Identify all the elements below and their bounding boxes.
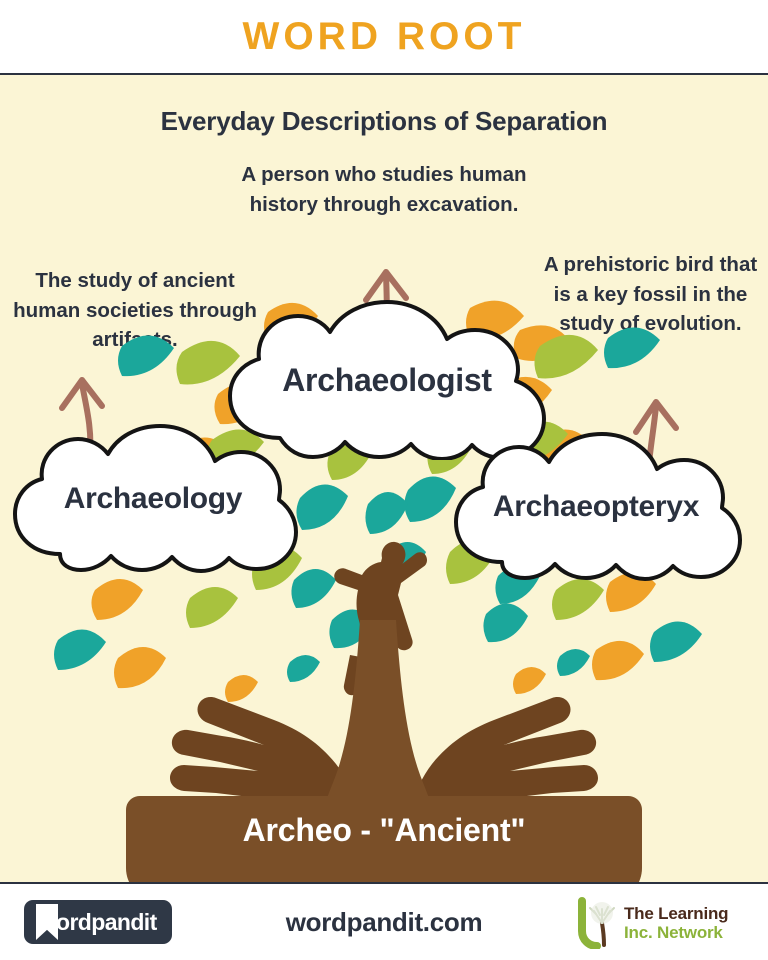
learning-network-logo[interactable]: The Learning Inc. Network [574, 896, 750, 950]
root-word-label: Archeo - "Ancient" [0, 812, 768, 849]
page-title: WORD ROOT [243, 17, 526, 56]
learning-network-line1: The Learning [624, 904, 728, 923]
wordpandit-logo[interactable]: ordpandit [24, 900, 172, 944]
bookmark-icon [36, 904, 58, 940]
infographic-poster: WORD ROOT Everyday Descriptions of Separ… [0, 0, 768, 960]
subtitle: Everyday Descriptions of Separation [0, 106, 768, 137]
header-bar: WORD ROOT [0, 0, 768, 75]
cloud-archaeopteryx[interactable]: Archaeopteryx [448, 432, 744, 582]
cloud-archaeology[interactable]: Archaeology [8, 424, 298, 574]
cloud-shape [8, 424, 298, 574]
footer-bar: wordpandit.com ordpandit The Learning In… [0, 882, 768, 960]
learning-network-tree-icon [574, 897, 620, 949]
learning-network-text: The Learning Inc. Network [624, 904, 728, 942]
learning-network-line2: Inc. Network [624, 923, 728, 942]
description-center: A person who studies human history throu… [239, 160, 529, 219]
wordpandit-logo-text: ordpandit [56, 900, 157, 944]
cloud-shape [448, 432, 744, 582]
